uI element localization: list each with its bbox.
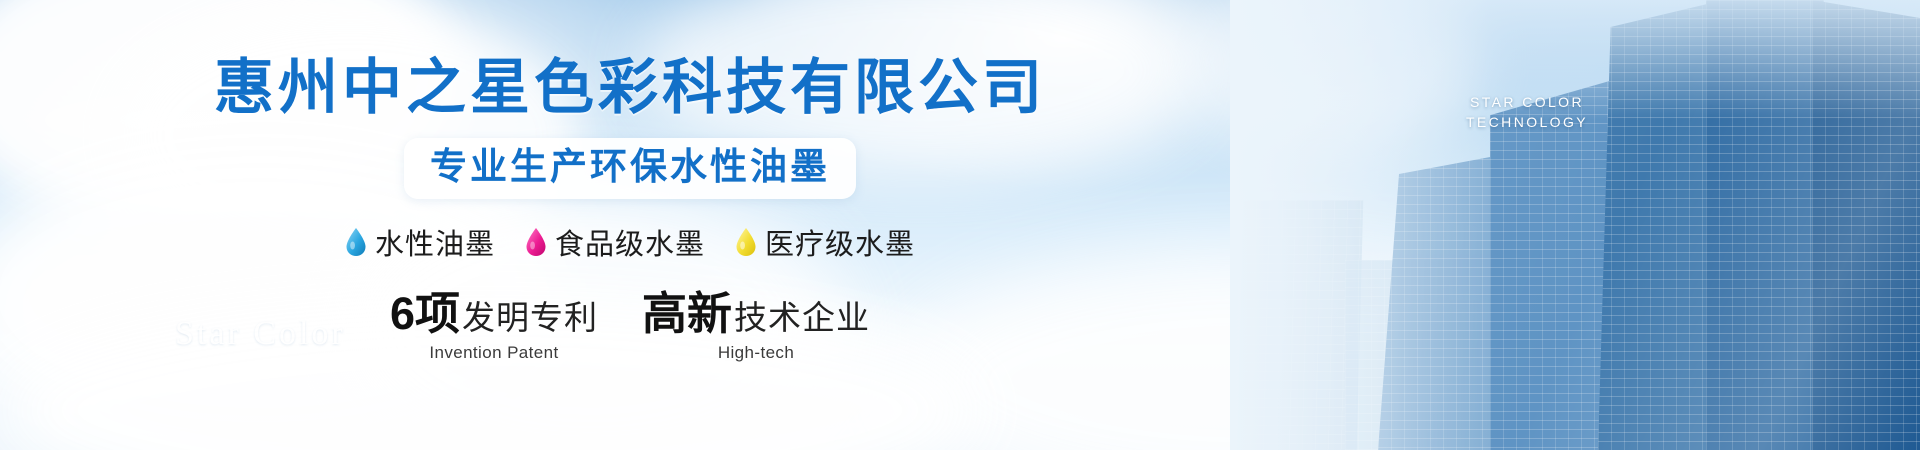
badge-english-text: High-tech [718, 343, 794, 363]
brand-mark: STAR COLOR TECHNOLOGY [1452, 92, 1602, 132]
banner-content: 惠州中之星色彩科技有限公司 专业生产环保水性油墨 水性油墨 [0, 0, 1260, 450]
feature-label: 食品级水墨 [555, 221, 705, 263]
badge-chinese-line: 6项 发明专利 [390, 291, 598, 336]
badge-rest-text: 发明专利 [462, 301, 598, 334]
subtitle-text: 专业生产环保水性油墨 [430, 147, 830, 188]
subtitle-pill: 专业生产环保水性油墨 [404, 138, 856, 199]
feature-label: 水性油墨 [375, 221, 495, 263]
water-droplet-icon [525, 227, 547, 257]
badge-invention-patent: 6项 发明专利 Invention Patent [390, 291, 598, 363]
brand-mark-line1: STAR COLOR [1452, 92, 1602, 112]
badge-strong-text: 高新 [642, 291, 732, 336]
water-droplet-icon [735, 227, 757, 257]
feature-item-food-grade-ink: 食品级水墨 [525, 221, 705, 263]
brand-mark-line2: TECHNOLOGY [1452, 112, 1602, 132]
feature-list: 水性油墨 食品级水墨 [345, 221, 915, 263]
company-title: 惠州中之星色彩科技有限公司 [214, 58, 1046, 118]
water-droplet-icon [345, 227, 367, 257]
skyline-left-fade [1230, 0, 1490, 450]
feature-item-waterbased-ink: 水性油墨 [345, 221, 495, 263]
badge-rest-text: 技术企业 [734, 301, 870, 334]
feature-label: 医疗级水墨 [765, 221, 915, 263]
feature-item-medical-grade-ink: 医疗级水墨 [735, 221, 915, 263]
badge-english-text: Invention Patent [429, 343, 558, 363]
skyline-illustration [1230, 0, 1920, 450]
credentials-row: 6项 发明专利 Invention Patent 高新 技术企业 High-te… [390, 291, 870, 363]
company-hero-banner: Star Color STAR COLOR TECHNOLOGY 惠州中之星色彩… [0, 0, 1920, 450]
badge-chinese-line: 高新 技术企业 [642, 291, 870, 336]
badge-high-tech-enterprise: 高新 技术企业 High-tech [642, 291, 870, 363]
badge-strong-text: 6项 [390, 291, 460, 336]
